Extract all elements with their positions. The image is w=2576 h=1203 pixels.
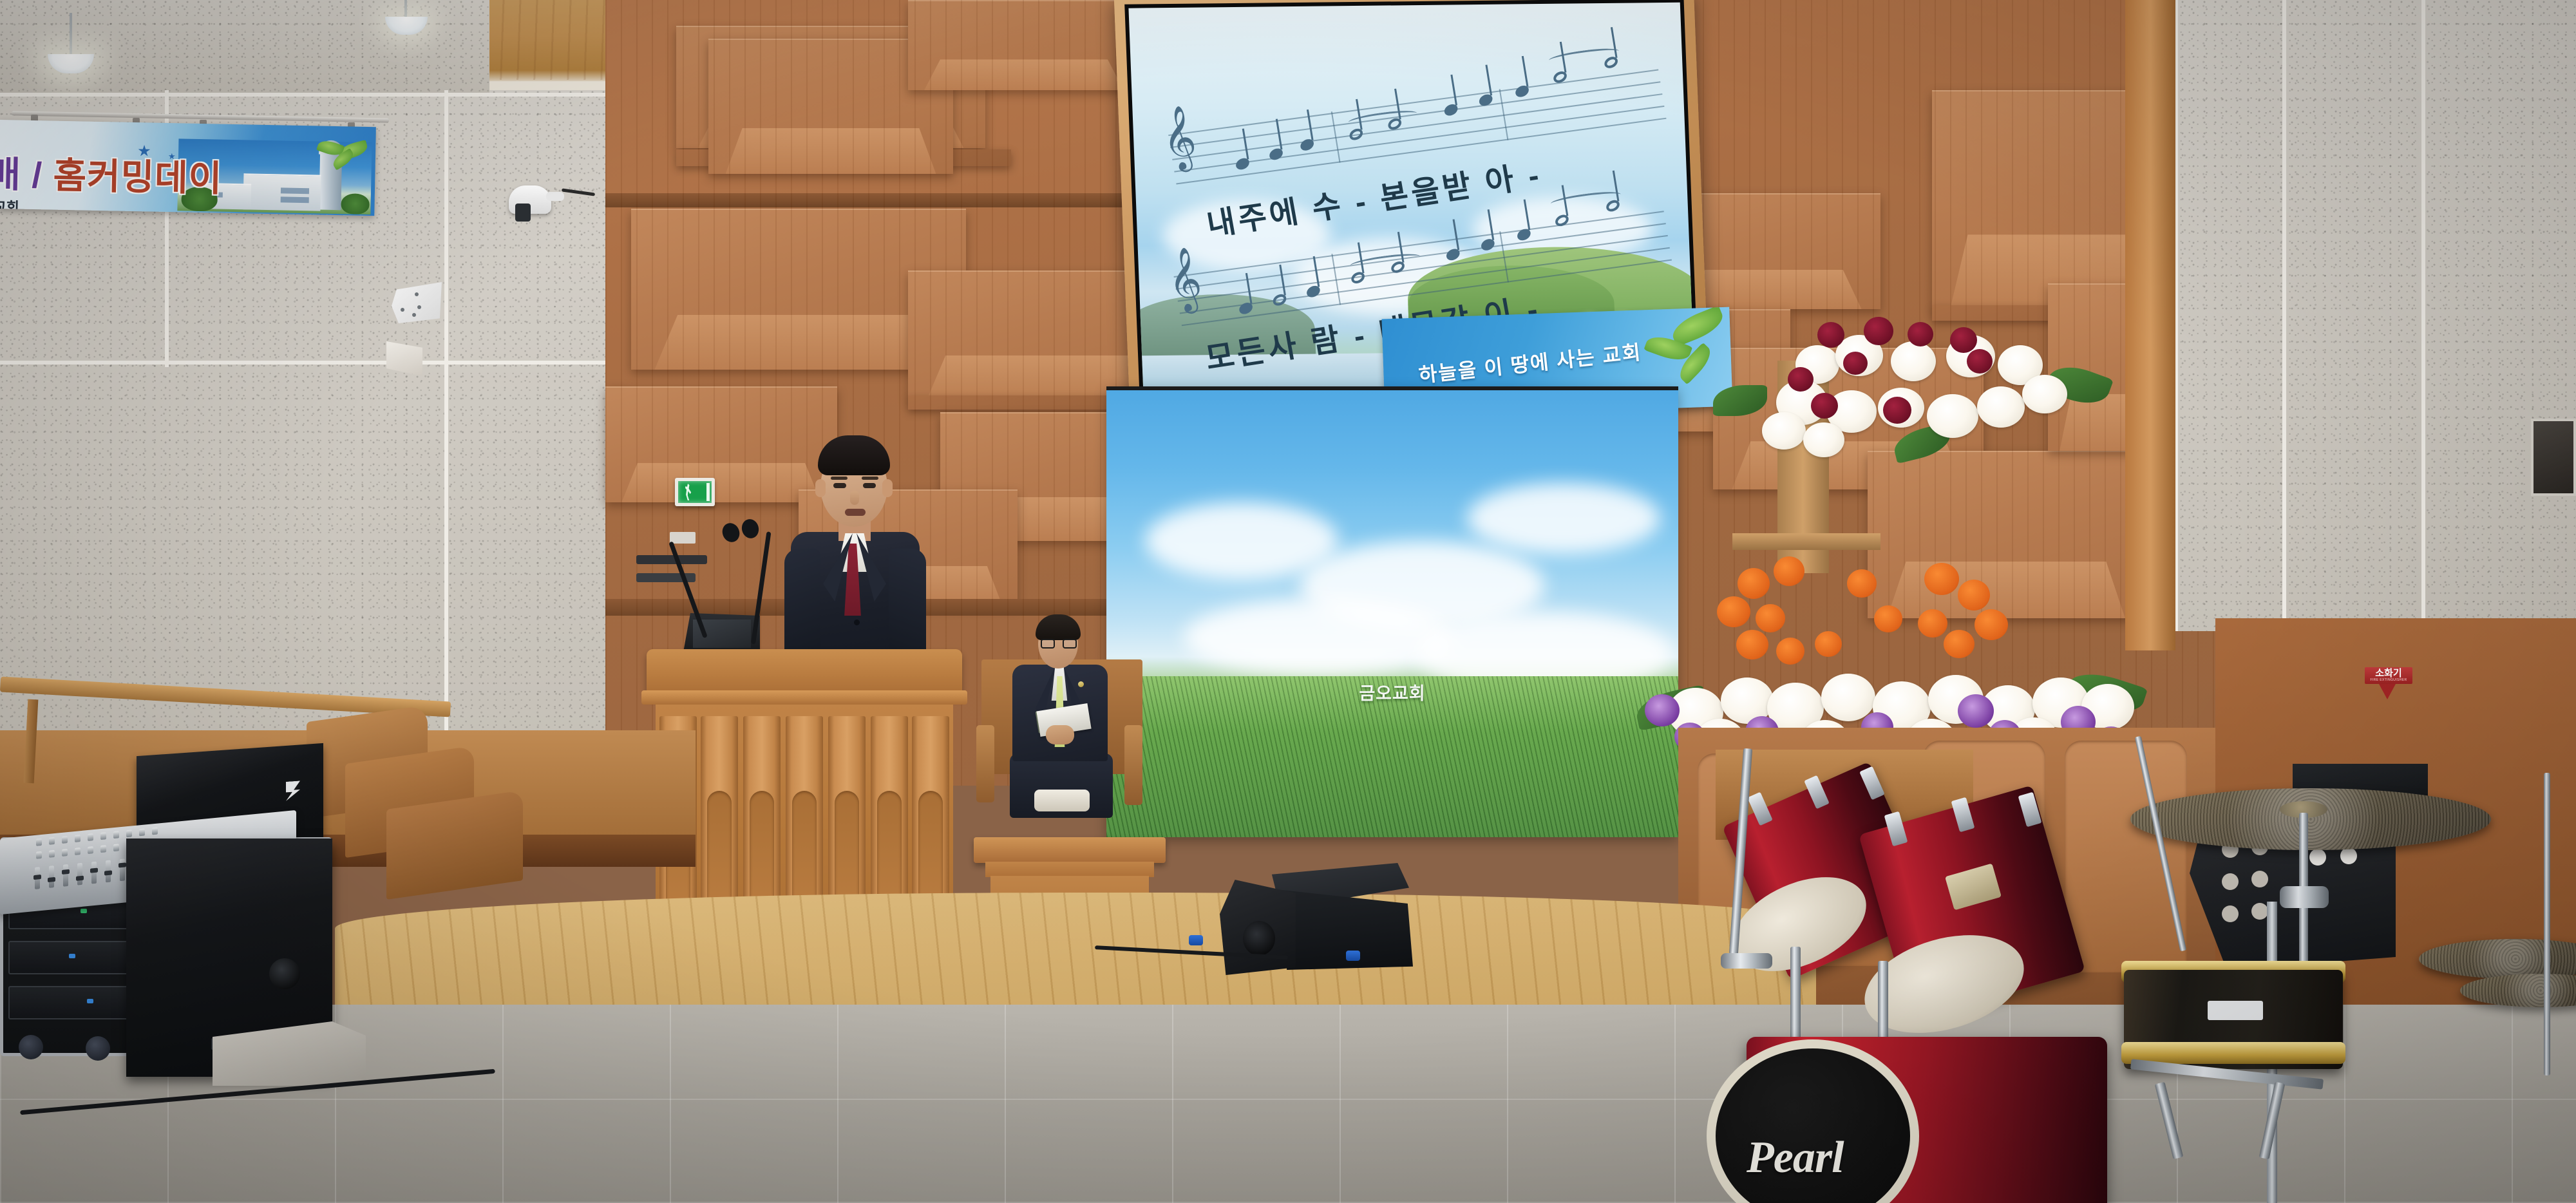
crash-cymbal: [2419, 939, 2576, 979]
flower-arrangement-upper: [1700, 313, 2138, 480]
church-slogan-text: 하늘을 이 땅에 사는 교회: [1417, 336, 1643, 388]
wall-relief-panel: [631, 209, 966, 370]
fire-extinguisher-arrow-icon: [2379, 684, 2396, 699]
wall-relief-shadow: [676, 149, 1011, 166]
wall-relief-panel: [908, 0, 1140, 90]
backdrop-church-name: 금오교회: [1359, 679, 1425, 705]
hi-hat-cymbal: [2460, 974, 2576, 1007]
homecoming-day-banner: ★ ★ 배 / 홈커밍데이 교회: [0, 120, 376, 216]
camera-lens-icon: [515, 204, 531, 222]
pulpit-lip-molding: [641, 690, 967, 705]
wall-relief-panel: [708, 39, 953, 174]
banner-title-prefix: 배 /: [0, 154, 43, 196]
snare-hoop-bottom: [2121, 1042, 2345, 1064]
rack-caster: [19, 1035, 43, 1059]
speaker-mouth: [845, 509, 866, 516]
speakon-connector-floor: [1189, 935, 1203, 945]
speaker-jacket-button: [854, 620, 860, 625]
fire-extinguisher-sign: 소화기 FIRE EXTINGUISHER: [2365, 667, 2412, 684]
chancel-pew-arm-right: [1124, 725, 1142, 805]
cymbal-stand-clutch: [2280, 886, 2329, 908]
fire-extinguisher-label-en: FIRE EXTINGUISHER: [2370, 678, 2407, 683]
pew-left-3: [386, 790, 523, 900]
church-sanctuary-photo: ★ ★ 배 / 홈커밍데이 교회: [0, 0, 2576, 1203]
speaker-eyebrow-left: [831, 477, 848, 480]
ride-cymbal: [2130, 788, 2491, 850]
sky-grass-backdrop: 금오교회: [1106, 386, 1678, 837]
seated-person-lapel-pin: [1078, 681, 1084, 687]
cymbal-stand-rod-3: [2135, 736, 2186, 952]
speaker-eye-right: [863, 483, 876, 488]
wall-seam: [2421, 0, 2425, 631]
rack-caster: [86, 1036, 110, 1061]
wall-seam: [2282, 0, 2286, 631]
wood-column-right: [2125, 0, 2175, 650]
speaker-logo-icon: [286, 781, 300, 801]
speaker-ear-right: [882, 479, 893, 497]
glasses-icon: [1041, 639, 1077, 649]
speaker-eyebrow-right: [862, 477, 878, 480]
wall-frame-right: [2531, 419, 2576, 496]
flower-stand-crossbar: [1732, 533, 1880, 550]
seated-person-hair: [1036, 614, 1081, 640]
exit-running-man-icon: [678, 481, 712, 503]
seated-person-hands: [1046, 725, 1074, 744]
speaker-eye-left: [833, 483, 846, 488]
fire-extinguisher-label-kr: 소화기: [2375, 668, 2401, 678]
speaker-person: [778, 435, 971, 667]
wall-plate: [670, 532, 696, 544]
drum-kit: Pearl: [1713, 734, 2576, 1203]
snare-badge: [2208, 1001, 2263, 1020]
side-table-cove: [985, 862, 1154, 877]
speakon-connector: [1346, 951, 1360, 961]
camera-mount: [546, 192, 564, 201]
banner-title-highlight: 홈커밍데이: [53, 155, 223, 199]
chancel-pew-arm-left: [976, 725, 994, 802]
wall-relief-panel: [676, 26, 985, 148]
textured-wall-left-upper: [0, 0, 489, 97]
drum-brand-logo: Pearl: [1747, 1132, 1895, 1184]
stage-floor-monitor: [1220, 862, 1413, 978]
door-closer-bar: [636, 555, 707, 564]
seat-cushion: [1034, 790, 1090, 811]
cymbal-stand-rod-2: [2544, 773, 2550, 1075]
monitor-driver: [1243, 921, 1275, 956]
banner-title: 배 / 홈커밍데이: [0, 146, 223, 202]
wall-seam: [444, 90, 448, 741]
subwoofer-port: [269, 958, 300, 989]
backdrop-top-strip: [1106, 386, 1678, 390]
side-table-top: [974, 837, 1166, 863]
pendant-light-arm: [70, 13, 72, 58]
speaker-nose: [850, 491, 859, 505]
textured-wall-right: [2170, 0, 2576, 631]
exit-sign: [675, 478, 715, 506]
speaker-ear-left: [815, 479, 826, 497]
speaker-hair: [818, 435, 890, 475]
pulpit-top-surface: [647, 649, 962, 696]
seated-person-area: [981, 605, 1162, 818]
